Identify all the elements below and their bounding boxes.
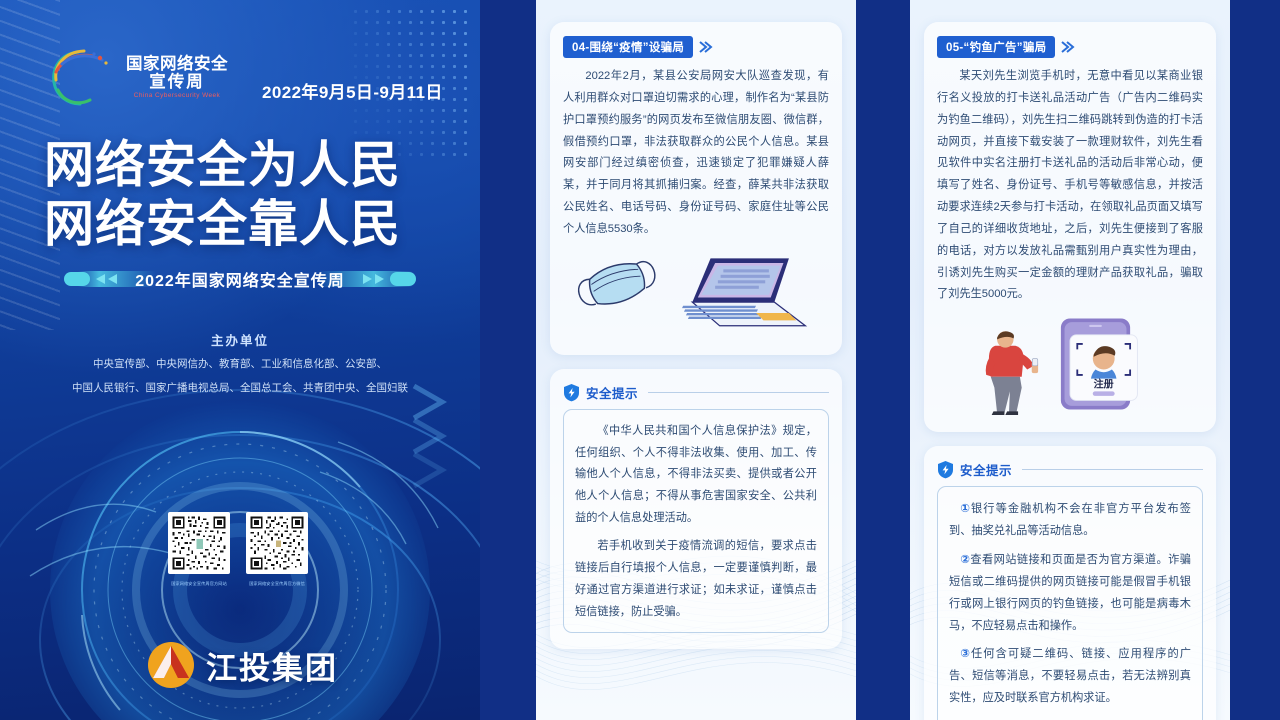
safety-tip-paragraph: 若手机收到关于疫情流调的短信，要求点击链接后自行填报个人信息，一定要谨慎判断，最… [575,536,817,623]
chevron-right-icon [697,39,713,55]
chevron-right-icon [1059,39,1075,55]
list-item: ②查看网站链接和页面是否为官方渠道。诈骗短信或二维码提供的网页链接可能是假冒手机… [949,549,1191,637]
list-item: ①银行等金融机构不会在非官方平台发布签到、抽奖兑礼品等活动信息。 [949,498,1191,543]
middle-article-panel: 04-围绕“疫情”设骗局 2022年2月，某县公安局网安大队巡查发现，有人利用群… [536,0,856,720]
title-line-2: 网络安全靠人民 [44,195,444,254]
safety-tips-title: 安全提示 [586,383,638,402]
company-brand: 江投集团 [146,640,338,690]
case-card-04: 04-围绕“疫情”设骗局 2022年2月，某县公安局网安大队巡查发现，有人利用群… [550,22,842,355]
shield-icon [937,460,954,479]
ribbon-cap-right [390,272,416,286]
ribbon-arrow-right-1-icon [375,274,384,284]
man-with-phone-register-illustration: 注册 [937,312,1203,416]
case-paragraph: 某天刘先生浏览手机时，无意中看见以某商业银行名义投放的打卡送礼品活动广告（广告内… [937,66,1203,306]
organizers-line-2: 中国人民银行、国家广播电视总局、全国总工会、共青团中央、全国妇联 [0,379,480,397]
left-poster: 国家网络安全 宣传周 China Cybersecurity Week 2022… [0,0,480,720]
qr-code-website-icon[interactable] [168,512,230,574]
case-badge: 04-围绕“疫情”设骗局 [563,36,713,58]
list-text: 任何含可疑二维码、链接、应用程序的广告、短信等消息，不要轻易点击，若无法辨别真实… [949,648,1191,704]
list-text: 银行等金融机构不会在非官方平台发布签到、抽奖兑礼品等活动信息。 [949,503,1191,537]
organizers-line-1: 中央宣传部、中央网信办、教育部、工业和信息化部、公安部、 [0,355,480,373]
list-number: ② [960,554,970,566]
safety-tips-body: ①银行等金融机构不会在非官方平台发布签到、抽奖兑礼品等活动信息。 ②查看网站链接… [937,486,1203,720]
qr-caption: 国家网络安全宣传周官方微信 [246,581,308,587]
ribbon-text: 2022年国家网络安全宣传周 [135,267,345,291]
safety-tips-header: 安全提示 [937,460,1203,479]
logo-line-2: 宣传周 [126,74,228,91]
qr-code-group: 国家网络安全宣传周官方网站 [168,512,308,587]
title-line-1: 网络安全为人民 [44,136,444,195]
qr-code-item[interactable]: 国家网络安全宣传周官方微信 [246,512,308,587]
logo-subtitle: China Cybersecurity Week [126,93,228,100]
safety-tips-list: ①银行等金融机构不会在非官方平台发布签到、抽奖兑礼品等活动信息。 ②查看网站链接… [949,498,1191,720]
event-ribbon: 2022年国家网络安全宣传周 [64,265,416,293]
safety-tips-card-middle: 安全提示 《中华人民共和国个人信息保护法》规定，任何组织、个人不得非法收集、使用… [550,369,842,650]
safety-tips-body: 《中华人民共和国个人信息保护法》规定，任何组织、个人不得非法收集、使用、加工、传… [563,409,829,634]
safety-tips-rule [648,392,829,393]
qr-caption: 国家网络安全宣传周官方网站 [168,581,230,587]
qr-code-item[interactable]: 国家网络安全宣传周官方网站 [168,512,230,587]
phone-register-label: 注册 [1094,378,1114,391]
shield-icon [563,383,580,402]
logo-wordmark: 国家网络安全 宣传周 China Cybersecurity Week [126,56,228,100]
list-number: ① [960,503,971,515]
safety-tips-header: 安全提示 [563,383,829,402]
list-item: ④涉及提供个人信息、资金转出时请务必三思，一旦发现受骗，请及时拨打110报警，并… [949,716,1191,720]
company-name: 江投集团 [206,643,338,688]
ribbon-arrow-left-1-icon [96,274,105,284]
qr-code-wechat-icon[interactable] [246,512,308,574]
logo-swoosh-icon [48,46,116,110]
safety-tip-paragraph: 《中华人民共和国个人信息保护法》规定，任何组织、个人不得非法收集、使用、加工、传… [575,421,817,530]
list-text: 查看网站链接和页面是否为官方渠道。诈骗短信或二维码提供的网页链接可能是假冒手机银… [949,554,1191,632]
right-article-panel: 05-“钓鱼广告”骗局 某天刘先生浏览手机时，无意中看见以某商业银行名义投放的打… [910,0,1230,720]
list-item: ③任何含可疑二维码、链接、应用程序的广告、短信等消息，不要轻易点击，若无法辨别真… [949,643,1191,710]
poster-main-title: 网络安全为人民 网络安全靠人民 [44,136,444,254]
case-badge-label: 05-“钓鱼广告”骗局 [937,36,1055,58]
organizers-block: 主办单位 中央宣传部、中央网信办、教育部、工业和信息化部、公安部、 中国人民银行… [0,330,480,398]
jiangtou-logo-icon [146,640,196,690]
case-badge: 05-“钓鱼广告”骗局 [937,36,1075,58]
mask-and-laptop-illustration [563,247,829,339]
poster-screenshot: 国家网络安全 宣传周 China Cybersecurity Week 2022… [0,0,1280,720]
case-badge-label: 04-围绕“疫情”设骗局 [563,36,693,58]
cybersecurity-week-logo: 国家网络安全 宣传周 China Cybersecurity Week [48,46,228,110]
list-number: ③ [960,648,971,660]
case-paragraph: 2022年2月，某县公安局网安大队巡查发现，有人利用群众对口罩迫切需求的心理，制… [563,66,829,241]
ribbon-arrow-right-2-icon [363,274,372,284]
case-card-05: 05-“钓鱼广告”骗局 某天刘先生浏览手机时，无意中看见以某商业银行名义投放的打… [924,22,1216,432]
event-date: 2022年9月5日-9月11日 [262,78,443,103]
organizers-title: 主办单位 [0,330,480,349]
logo-line-1: 国家网络安全 [126,56,228,73]
ribbon-arrow-left-2-icon [108,274,117,284]
safety-tips-title: 安全提示 [960,460,1012,479]
safety-tips-rule [1022,469,1203,470]
safety-tips-card-right: 安全提示 ①银行等金融机构不会在非官方平台发布签到、抽奖兑礼品等活动信息。 ②查… [924,446,1216,720]
ribbon-cap-left [64,272,90,286]
